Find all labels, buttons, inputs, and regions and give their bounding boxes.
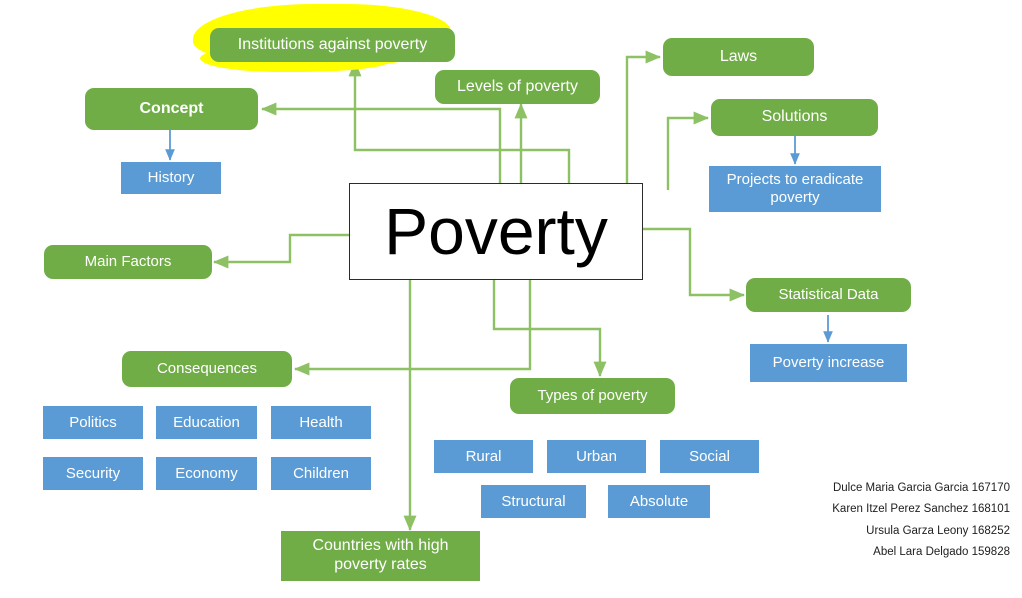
node-health[interactable]: Health — [271, 406, 371, 439]
connector-center-solutions — [668, 118, 708, 190]
node-security[interactable]: Security — [43, 457, 143, 490]
connector-center-consequences — [295, 280, 530, 369]
node-education[interactable]: Education — [156, 406, 257, 439]
connector-center-concept — [262, 109, 500, 190]
node-label: Economy — [175, 465, 238, 483]
node-structural[interactable]: Structural — [481, 485, 586, 518]
node-label: Children — [293, 465, 349, 483]
node-label: Types of poverty — [537, 387, 647, 405]
node-label: Levels of poverty — [457, 78, 578, 97]
node-consequences[interactable]: Consequences — [122, 351, 292, 387]
node-label: Main Factors — [85, 253, 172, 271]
node-statistical-data[interactable]: Statistical Data — [746, 278, 911, 312]
node-label: Consequences — [157, 360, 257, 378]
node-institutions-against-poverty[interactable]: Institutions against poverty — [210, 28, 455, 62]
node-politics[interactable]: Politics — [43, 406, 143, 439]
node-label: Urban — [576, 448, 617, 466]
mind-map-canvas: Institutions against poverty Levels of p… — [0, 0, 1022, 598]
center-label: Poverty — [384, 193, 608, 271]
node-label-line-2: poverty rates — [334, 556, 426, 575]
node-poverty-center[interactable]: Poverty — [349, 183, 643, 280]
node-label-line-2: poverty — [770, 189, 819, 207]
connector-center-statistical-data — [643, 229, 744, 295]
node-label: Politics — [69, 414, 117, 432]
node-history[interactable]: History — [121, 162, 221, 194]
node-poverty-increase[interactable]: Poverty increase — [750, 344, 907, 382]
node-types-of-poverty[interactable]: Types of poverty — [510, 378, 675, 414]
node-label: Rural — [466, 448, 502, 466]
node-label: Absolute — [630, 493, 688, 511]
node-label: Concept — [140, 100, 204, 119]
node-label: Laws — [720, 48, 757, 67]
node-absolute[interactable]: Absolute — [608, 485, 710, 518]
node-label-line-1: Countries with high — [312, 537, 448, 556]
node-label: Health — [299, 414, 342, 432]
credit-line: Dulce Maria Garcia Garcia 167170 — [752, 478, 1010, 499]
node-rural[interactable]: Rural — [434, 440, 533, 473]
node-countries-with-high-poverty-rates[interactable]: Countries with high poverty rates — [281, 531, 480, 581]
connector-center-types — [494, 280, 600, 376]
node-urban[interactable]: Urban — [547, 440, 646, 473]
node-label: Statistical Data — [778, 286, 878, 304]
node-label-line-1: Projects to eradicate — [727, 171, 864, 189]
node-concept[interactable]: Concept — [85, 88, 258, 130]
node-label: Institutions against poverty — [238, 36, 427, 55]
node-label: Solutions — [762, 108, 828, 127]
node-levels-of-poverty[interactable]: Levels of poverty — [435, 70, 600, 104]
node-solutions[interactable]: Solutions — [711, 99, 878, 136]
credit-line: Karen Itzel Perez Sanchez 168101 — [752, 499, 1010, 520]
credit-line: Abel Lara Delgado 159828 — [752, 542, 1010, 563]
node-label: Social — [689, 448, 730, 466]
node-economy[interactable]: Economy — [156, 457, 257, 490]
node-main-factors[interactable]: Main Factors — [44, 245, 212, 279]
node-label: Education — [173, 414, 240, 432]
node-label: Structural — [501, 493, 565, 511]
credit-line: Ursula Garza Leony 168252 — [752, 521, 1010, 542]
node-social[interactable]: Social — [660, 440, 759, 473]
node-laws[interactable]: Laws — [663, 38, 814, 76]
credits-block: Dulce Maria Garcia Garcia 167170 Karen I… — [752, 478, 1010, 563]
node-projects-to-eradicate-poverty[interactable]: Projects to eradicate poverty — [709, 166, 881, 212]
node-label: Poverty increase — [773, 354, 885, 372]
connector-center-laws — [627, 57, 660, 190]
node-children[interactable]: Children — [271, 457, 371, 490]
node-label: History — [148, 169, 195, 187]
node-label: Security — [66, 465, 120, 483]
